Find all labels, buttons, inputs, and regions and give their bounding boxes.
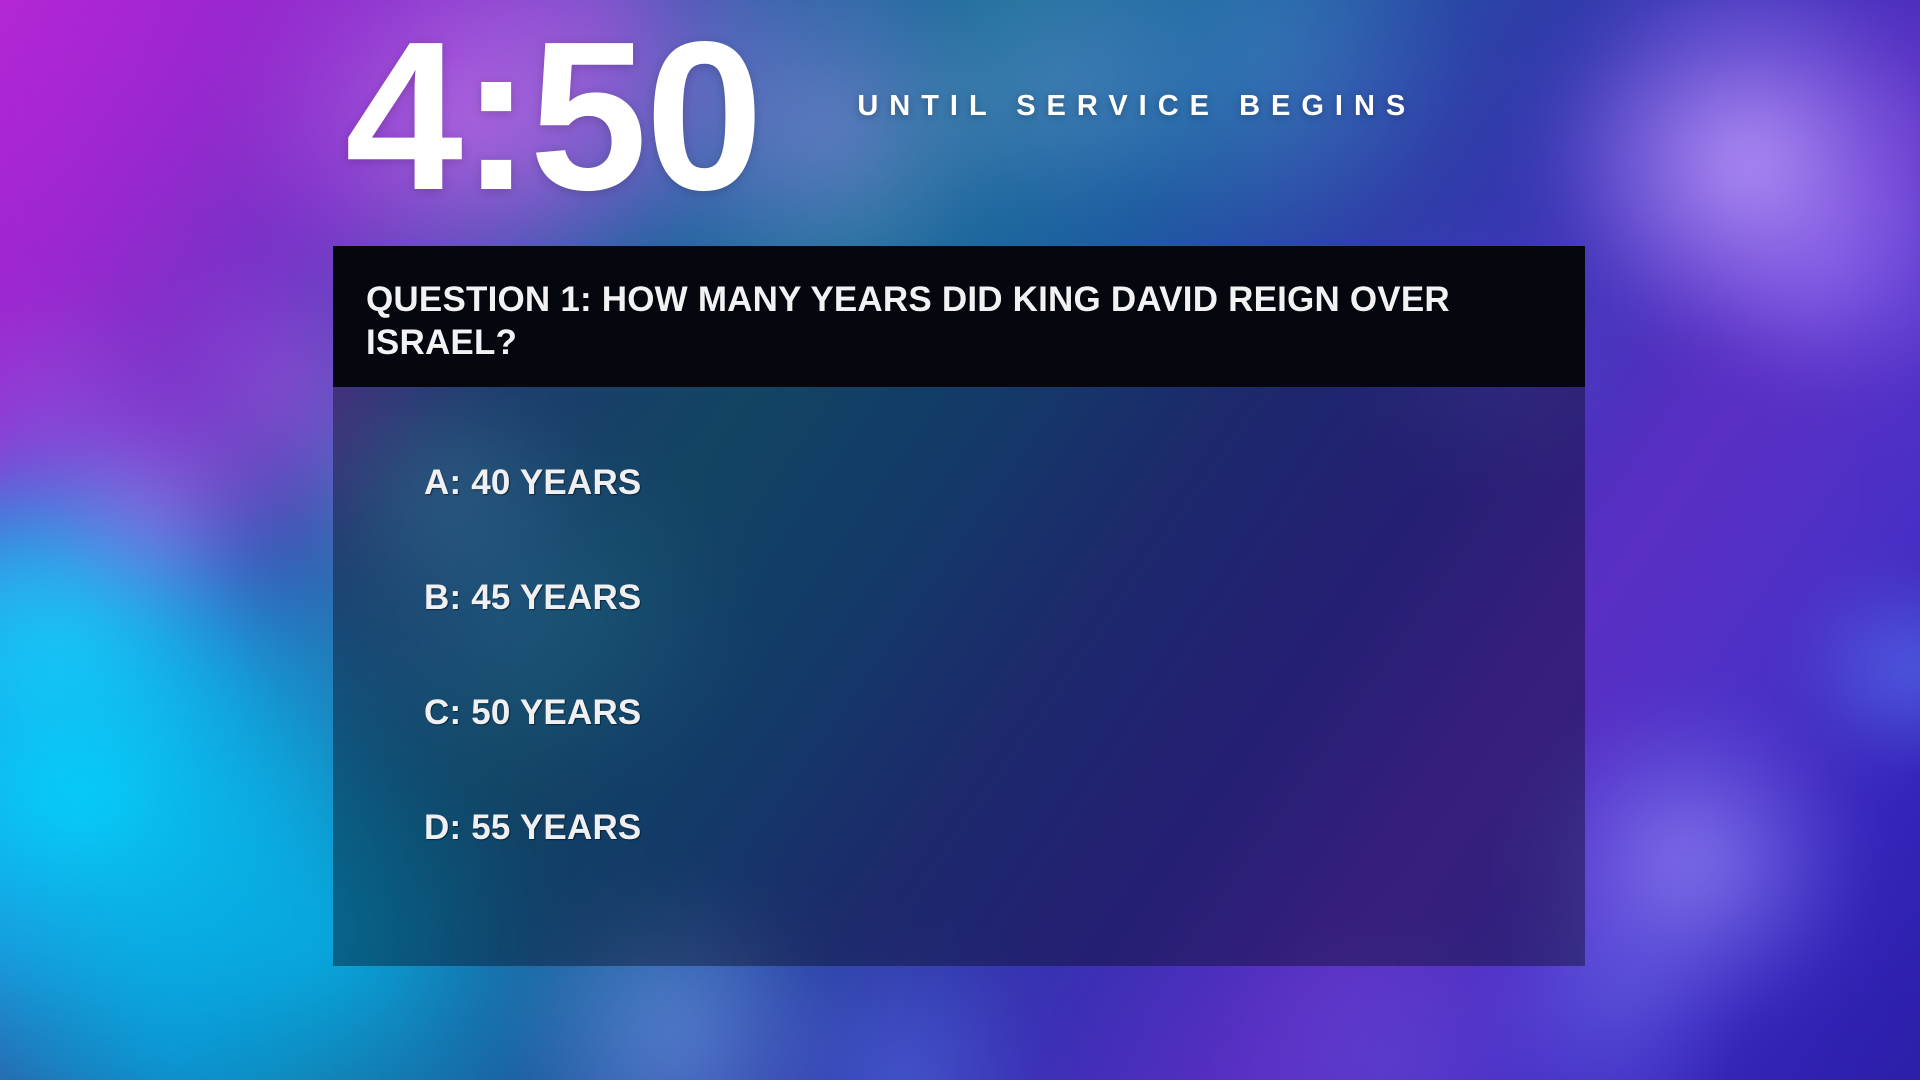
quiz-answer-option-c: C: 50 YEARS [424,695,1585,730]
slide-canvas: 4:50 UNTIL SERVICE BEGINS QUESTION 1: HO… [0,0,1920,1080]
quiz-answer-list: A: 40 YEARS B: 45 YEARS C: 50 YEARS D: 5… [333,387,1585,966]
quiz-question-text: QUESTION 1: HOW MANY YEARS DID KING DAVI… [366,279,1545,364]
countdown-timer: 4:50 UNTIL SERVICE BEGINS [345,10,1416,222]
quiz-question-header: QUESTION 1: HOW MANY YEARS DID KING DAVI… [333,246,1585,387]
quiz-answer-option-d: D: 55 YEARS [424,810,1585,845]
quiz-answer-option-b: B: 45 YEARS [424,580,1585,615]
countdown-time-value: 4:50 [345,10,761,222]
countdown-caption: UNTIL SERVICE BEGINS [857,90,1416,123]
quiz-panel: QUESTION 1: HOW MANY YEARS DID KING DAVI… [333,246,1585,966]
quiz-answer-option-a: A: 40 YEARS [424,465,1585,500]
